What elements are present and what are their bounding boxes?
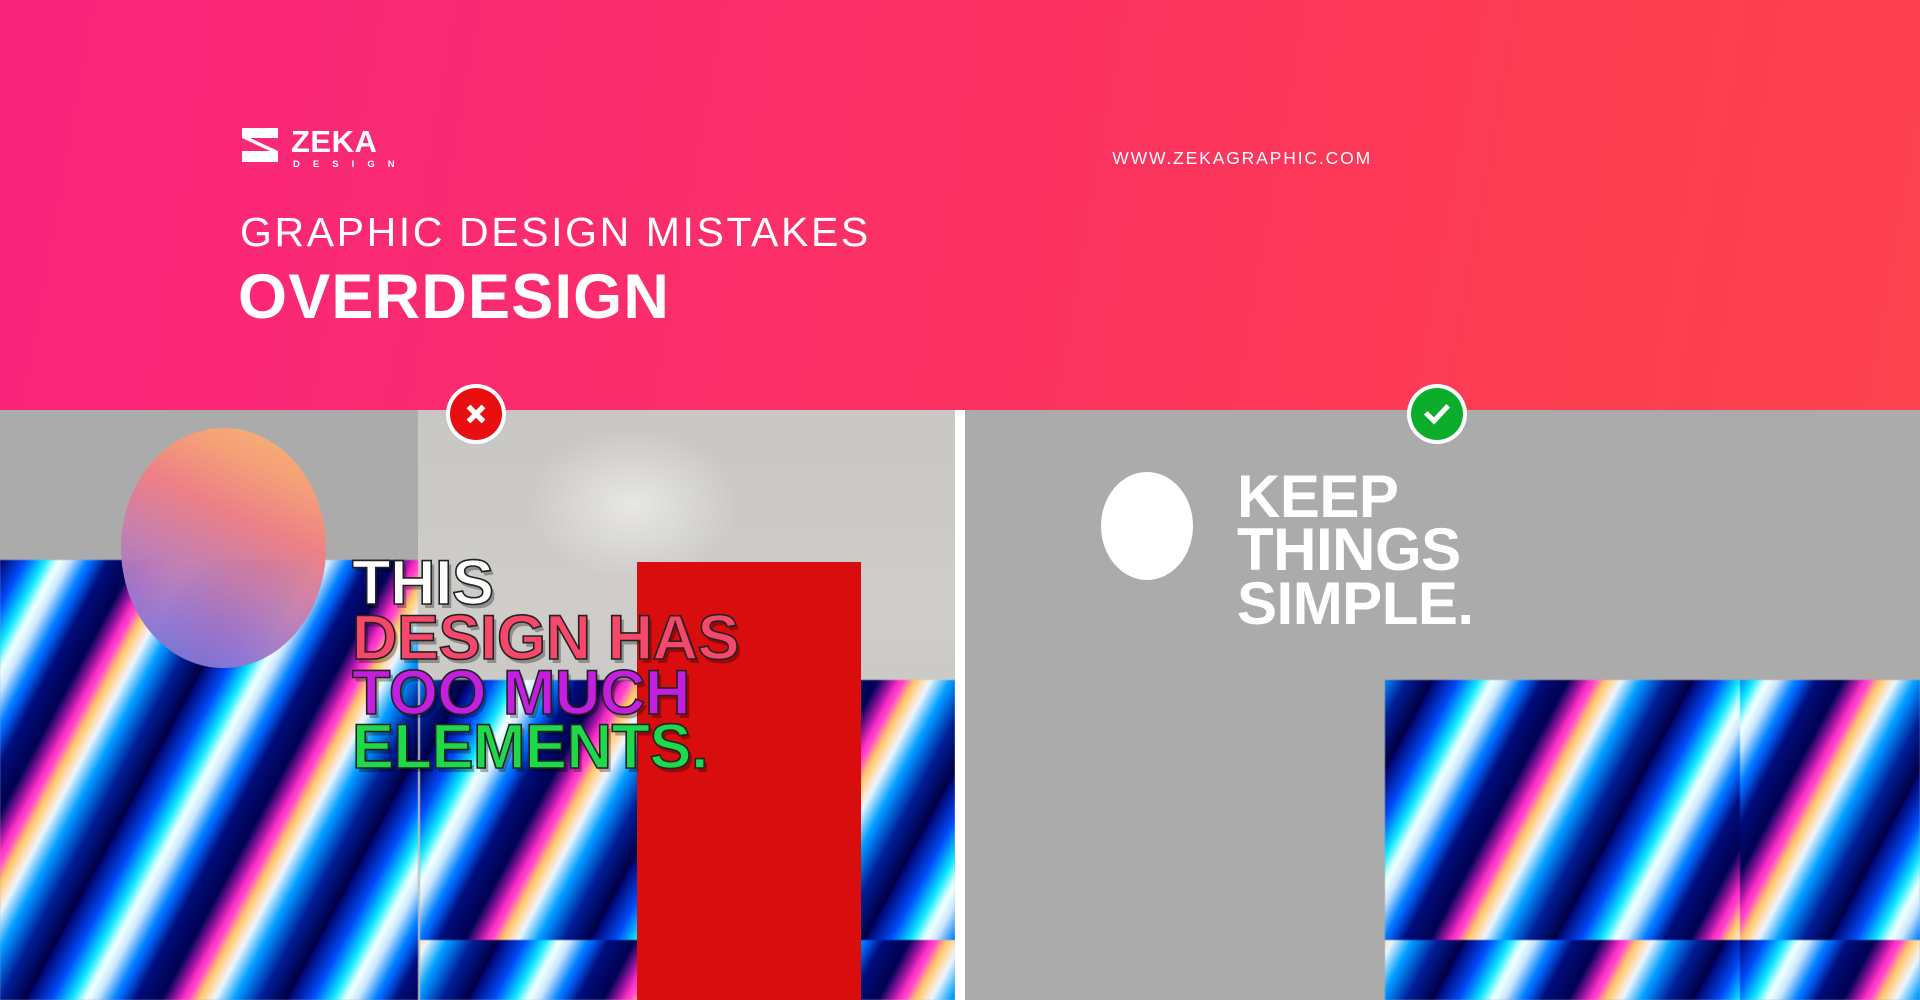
header-banner: ZEKA D E S I G N WWW.ZEKAGRAPHIC.COM GRA… bbox=[0, 0, 1920, 410]
good-copy-line-3: SIMPLE. bbox=[1237, 577, 1474, 630]
bad-example-copy: THIS DESIGN HAS TOO MUCH ELEMENTS. bbox=[352, 556, 952, 775]
good-copy-line-2: THINGS bbox=[1237, 523, 1474, 576]
x-circle-icon bbox=[450, 388, 502, 440]
poster-canvas: ZEKA D E S I G N WWW.ZEKAGRAPHIC.COM GRA… bbox=[0, 0, 1920, 1000]
holographic-texture-block bbox=[1385, 680, 1920, 1000]
brand-wordmark: ZEKA D E S I G N bbox=[291, 126, 400, 173]
good-example-copy: KEEP THINGS SIMPLE. bbox=[1237, 470, 1474, 630]
zeka-mark-icon bbox=[240, 126, 280, 164]
header-kicker: GRAPHIC DESIGN MISTAKES bbox=[240, 212, 871, 253]
bad-copy-line-4: ELEMENTS. bbox=[352, 720, 952, 775]
good-copy-line-1: KEEP bbox=[1237, 470, 1474, 523]
brand-subtitle: D E S I G N bbox=[291, 157, 400, 172]
white-circle-shape bbox=[1101, 472, 1193, 580]
gradient-circle-shape bbox=[121, 428, 326, 668]
brand-logo[interactable]: ZEKA D E S I G N bbox=[240, 126, 400, 173]
comparison-panels: THIS DESIGN HAS TOO MUCH ELEMENTS. KEEP … bbox=[0, 410, 1920, 1000]
page-title: OVERDESIGN bbox=[238, 266, 670, 329]
brand-name: ZEKA bbox=[291, 127, 400, 156]
check-circle-icon bbox=[1411, 388, 1463, 440]
panel-good-example: KEEP THINGS SIMPLE. bbox=[965, 410, 1920, 1000]
site-url[interactable]: WWW.ZEKAGRAPHIC.COM bbox=[1112, 148, 1372, 169]
panel-bad-example: THIS DESIGN HAS TOO MUCH ELEMENTS. bbox=[0, 410, 955, 1000]
